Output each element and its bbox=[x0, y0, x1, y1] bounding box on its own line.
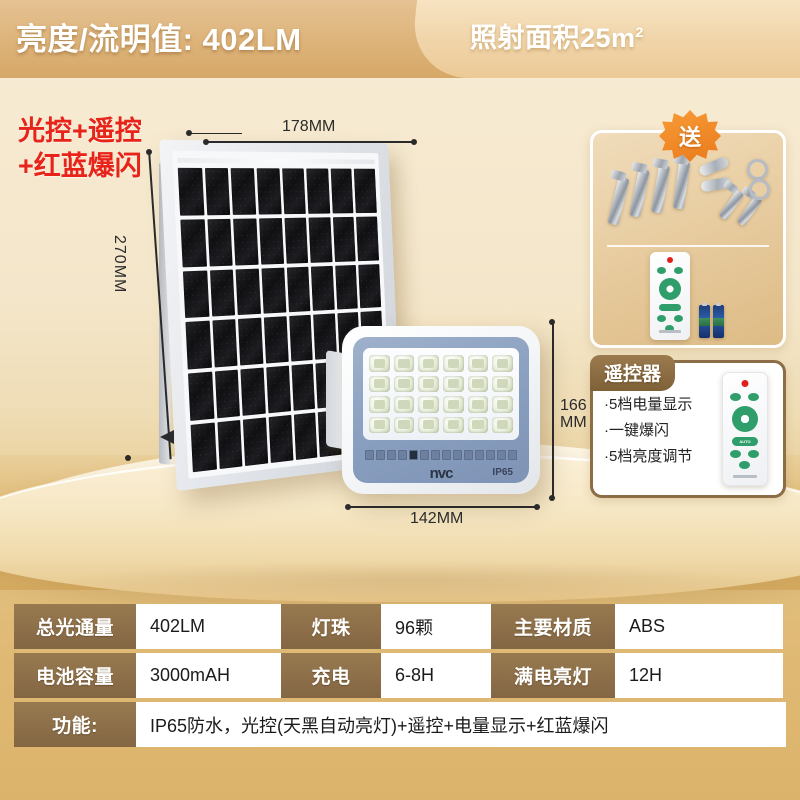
indicator-segment bbox=[442, 450, 451, 460]
banner-subtitle: 照射面积25m2 bbox=[470, 16, 644, 55]
led-array bbox=[363, 348, 519, 440]
function-value: IP65防水，光控(天黑自动亮灯)+遥控+电量显示+红蓝爆闪 bbox=[136, 702, 786, 747]
lamp-indicator-strip bbox=[365, 449, 517, 460]
wing-nut bbox=[698, 156, 730, 177]
spec-value: ABS bbox=[615, 604, 783, 649]
remote-dpad bbox=[659, 278, 681, 300]
led-chip bbox=[369, 396, 390, 413]
spec-value: 402LM bbox=[136, 604, 281, 649]
indicator-segment bbox=[387, 450, 396, 460]
indicator-segment bbox=[508, 450, 517, 460]
dimension-label-lamp-height: 166 MM bbox=[560, 398, 587, 432]
dimension-endpoint bbox=[534, 504, 540, 510]
solar-cell bbox=[359, 264, 382, 309]
led-chip bbox=[492, 396, 513, 413]
bolt-head bbox=[610, 169, 627, 181]
led-chip bbox=[394, 355, 415, 372]
indicator-segment bbox=[475, 450, 484, 460]
remote-feature-item: ·5档亮度调节 bbox=[604, 444, 716, 470]
solar-cell bbox=[241, 368, 266, 416]
indicator-group-center bbox=[409, 450, 473, 460]
table-row: 总光通量 402LM 灯珠 96颗 主要材质 ABS bbox=[14, 604, 786, 649]
indicator-group-right bbox=[475, 450, 517, 460]
spec-label: 电池容量 bbox=[14, 653, 136, 698]
dimension-endpoint bbox=[125, 455, 131, 461]
banner-subtitle-superscript: 2 bbox=[636, 24, 644, 40]
led-chip bbox=[468, 417, 489, 434]
solar-cell bbox=[210, 269, 236, 317]
led-chip bbox=[443, 396, 464, 413]
solar-cell bbox=[238, 318, 263, 366]
battery bbox=[713, 305, 724, 338]
indicator-group-left bbox=[365, 450, 407, 460]
remote-button bbox=[657, 315, 666, 322]
flood-lamp: nvc IP65 bbox=[342, 326, 540, 494]
solar-cell bbox=[286, 266, 310, 312]
expansion-bolt bbox=[651, 164, 670, 213]
indicator-segment bbox=[431, 450, 440, 460]
led-chip bbox=[468, 396, 489, 413]
spring-washer bbox=[749, 179, 770, 200]
solar-cell bbox=[183, 270, 209, 318]
ip-rating-label: IP65 bbox=[492, 467, 513, 478]
solar-cell-row bbox=[183, 264, 381, 319]
remote-auto-button: AUTO bbox=[732, 437, 758, 446]
highlight-leader-line bbox=[188, 133, 242, 134]
dimension-endpoint bbox=[345, 504, 351, 510]
lamp-front-face: nvc IP65 bbox=[353, 337, 529, 483]
remote-button bbox=[739, 461, 750, 469]
led-chip bbox=[394, 396, 415, 413]
led-chip bbox=[369, 417, 390, 434]
solar-cell bbox=[257, 168, 282, 214]
solar-panel-busbar bbox=[177, 158, 374, 164]
solar-cell-row bbox=[180, 216, 379, 267]
dimension-label-panel-height: 270MM bbox=[110, 235, 128, 293]
remote-button bbox=[730, 450, 741, 458]
led-chip bbox=[468, 376, 489, 393]
battery bbox=[699, 305, 710, 338]
solar-cell bbox=[264, 317, 289, 364]
spec-label: 总光通量 bbox=[14, 604, 136, 649]
remote-control-illustration: AUTO bbox=[722, 372, 768, 486]
remote-led-indicator bbox=[667, 257, 673, 263]
led-chip bbox=[418, 396, 439, 413]
led-chip bbox=[394, 376, 415, 393]
led-chip bbox=[418, 355, 439, 372]
specification-table: 总光通量 402LM 灯珠 96颗 主要材质 ABS 电池容量 3000mAH … bbox=[14, 604, 786, 751]
led-chip bbox=[418, 376, 439, 393]
remote-button bbox=[748, 393, 759, 401]
solar-cell bbox=[180, 219, 206, 267]
indicator-segment bbox=[376, 450, 385, 460]
table-row-function: 功能: IP65防水，光控(天黑自动亮灯)+遥控+电量显示+红蓝爆闪 bbox=[14, 702, 786, 747]
remote-feature-item: ·5档电量显示 bbox=[604, 392, 716, 418]
led-chip bbox=[492, 355, 513, 372]
function-label: 功能: bbox=[14, 702, 136, 747]
dimension-label-lamp-width: 142MM bbox=[410, 510, 463, 528]
expansion-bolt bbox=[629, 168, 650, 217]
solar-cell bbox=[185, 321, 211, 370]
led-chip bbox=[443, 355, 464, 372]
spec-value: 3000mAH bbox=[136, 653, 281, 698]
solar-cell bbox=[269, 415, 293, 463]
podium-shadow bbox=[60, 560, 760, 600]
led-chip bbox=[418, 417, 439, 434]
dimension-endpoint bbox=[549, 319, 555, 325]
remote-button bbox=[730, 393, 741, 401]
spec-value: 6-8H bbox=[381, 653, 491, 698]
solar-cell-row bbox=[178, 168, 377, 216]
solar-cell bbox=[330, 169, 353, 214]
banner-subtitle-text: 照射面积25m bbox=[470, 23, 636, 53]
spec-label: 满电亮灯 bbox=[491, 653, 615, 698]
remote-control-accessory bbox=[650, 252, 690, 340]
led-chip bbox=[394, 417, 415, 434]
banner-title: 亮度/流明值: 402LM bbox=[16, 14, 302, 59]
solar-cell bbox=[335, 265, 358, 310]
solar-cell bbox=[236, 268, 261, 315]
remote-bottom-strip bbox=[659, 330, 681, 333]
led-chip bbox=[468, 355, 489, 372]
solar-cell bbox=[191, 423, 217, 473]
solar-cell bbox=[217, 420, 243, 469]
remote-button bbox=[674, 267, 683, 274]
bolt-head bbox=[631, 162, 648, 174]
remote-auto-button bbox=[659, 304, 681, 311]
remote-button bbox=[674, 315, 683, 322]
led-chip bbox=[492, 376, 513, 393]
indicator-segment bbox=[464, 450, 473, 460]
solar-cell bbox=[284, 217, 308, 263]
dimension-line-panel-width bbox=[206, 141, 416, 143]
solar-cell bbox=[188, 372, 214, 421]
expansion-bolt bbox=[673, 160, 691, 209]
solar-cell bbox=[178, 168, 204, 216]
led-chip bbox=[492, 417, 513, 434]
solar-cell bbox=[215, 370, 241, 419]
highlight-leader-dot bbox=[186, 130, 192, 136]
bolt-head bbox=[652, 158, 668, 169]
led-chip bbox=[369, 376, 390, 393]
remote-info-title: 遥控器 bbox=[590, 355, 675, 391]
solar-cell bbox=[289, 315, 313, 362]
remote-dpad bbox=[732, 406, 758, 432]
solar-cell bbox=[243, 418, 268, 466]
indicator-segment bbox=[497, 450, 506, 460]
table-row: 电池容量 3000mAH 充电 6-8H 满电亮灯 12H bbox=[14, 653, 786, 698]
spec-label: 灯珠 bbox=[281, 604, 381, 649]
dimension-line-lamp-height bbox=[552, 322, 554, 498]
accessories-divider bbox=[607, 245, 769, 247]
remote-feature-item: ·一键爆闪 bbox=[604, 418, 716, 444]
dimension-endpoint bbox=[203, 139, 209, 145]
product-infographic: 亮度/流明值: 402LM 照射面积25m2 光控+遥控 +红蓝爆闪 bbox=[0, 0, 800, 800]
remote-led-indicator bbox=[742, 380, 749, 387]
solar-cell bbox=[309, 217, 333, 262]
solar-cell bbox=[259, 218, 284, 264]
solar-cell bbox=[354, 169, 377, 213]
spec-label: 充电 bbox=[281, 653, 381, 698]
spring-washer bbox=[747, 159, 768, 180]
spec-label: 主要材质 bbox=[491, 604, 615, 649]
remote-bottom-strip bbox=[733, 475, 758, 478]
solar-cell bbox=[291, 364, 315, 411]
dimension-endpoint bbox=[549, 495, 555, 501]
solar-cell bbox=[306, 168, 330, 213]
indicator-segment bbox=[398, 450, 407, 460]
spec-value: 96颗 bbox=[381, 604, 491, 649]
solar-cell bbox=[205, 168, 231, 215]
solar-cell bbox=[212, 320, 238, 368]
solar-cell bbox=[261, 267, 286, 314]
remote-feature-list: ·5档电量显示 ·一键爆闪 ·5档亮度调节 bbox=[604, 392, 716, 469]
solar-cell bbox=[266, 366, 291, 414]
led-chip bbox=[443, 376, 464, 393]
remote-button bbox=[657, 267, 666, 274]
solar-cell bbox=[356, 216, 379, 261]
dimension-line-lamp-width bbox=[348, 506, 538, 508]
led-chip bbox=[369, 355, 390, 372]
spec-value: 12H bbox=[615, 653, 783, 698]
solar-cell bbox=[233, 218, 258, 265]
solar-cell bbox=[231, 168, 256, 215]
solar-cell bbox=[333, 217, 356, 262]
indicator-segment-active bbox=[409, 450, 418, 460]
indicator-segment bbox=[486, 450, 495, 460]
led-chip bbox=[443, 417, 464, 434]
expansion-bolt bbox=[607, 176, 629, 225]
solar-cell bbox=[293, 413, 317, 460]
dimension-endpoint bbox=[146, 149, 152, 155]
solar-cell bbox=[207, 219, 233, 266]
indicator-segment bbox=[453, 450, 462, 460]
dimension-label-panel-width: 178MM bbox=[282, 118, 335, 136]
indicator-segment bbox=[420, 450, 429, 460]
solar-cell bbox=[311, 266, 335, 312]
indicator-segment bbox=[365, 450, 374, 460]
remote-button bbox=[748, 450, 759, 458]
solar-cell bbox=[282, 168, 306, 214]
dimension-endpoint bbox=[411, 139, 417, 145]
